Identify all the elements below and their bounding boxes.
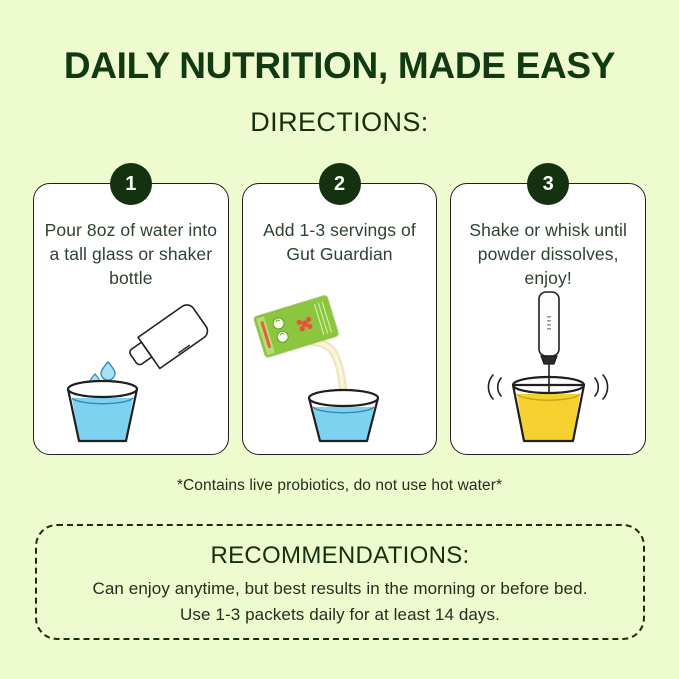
step-number-badge-2: 2 [319, 163, 361, 205]
recommendations-line-1: Can enjoy anytime, but best results in t… [37, 576, 643, 602]
footnote-text: *Contains live probiotics, do not use ho… [0, 476, 679, 496]
step-illustration-3 [451, 286, 645, 446]
recommendations-box: RECOMMENDATIONS: Can enjoy anytime, but … [35, 524, 645, 640]
recommendations-body: Can enjoy anytime, but best results in t… [37, 576, 643, 628]
directions-heading: DIRECTIONS: [0, 106, 679, 138]
frother-whisking-icon [463, 286, 633, 446]
step-illustration-1 [34, 286, 228, 446]
step-text-2: Add 1-3 servings of Gut Guardian [251, 218, 429, 266]
step-card-1: 1 Pour 8oz of water into a tall glass or… [33, 183, 229, 455]
step-card-2: 2 Add 1-3 servings of Gut Guardian [242, 183, 438, 455]
step-illustration-2 [243, 286, 437, 446]
packet-pouring-icon [250, 286, 430, 446]
recommendations-line-2: Use 1-3 packets daily for at least 14 da… [37, 602, 643, 628]
water-drop-icon [101, 362, 115, 380]
glass-of-water-icon [309, 390, 378, 441]
step-number-badge-1: 1 [110, 163, 152, 205]
step-text-3: Shake or whisk until powder dissolves, e… [459, 218, 637, 290]
step-card-3: 3 Shake or whisk until powder dissolves,… [450, 183, 646, 455]
step-number-badge-3: 3 [527, 163, 569, 205]
steps-row: 1 Pour 8oz of water into a tall glass or… [33, 183, 646, 455]
page-title: DAILY NUTRITION, MADE EASY [0, 44, 679, 88]
recommendations-title: RECOMMENDATIONS: [37, 542, 643, 570]
step-text-1: Pour 8oz of water into a tall glass or s… [42, 218, 220, 290]
bottle-pouring-icon [46, 286, 216, 446]
glass-of-water-icon [68, 381, 137, 441]
instructions-poster: DAILY NUTRITION, MADE EASY DIRECTIONS: 1… [0, 0, 679, 679]
